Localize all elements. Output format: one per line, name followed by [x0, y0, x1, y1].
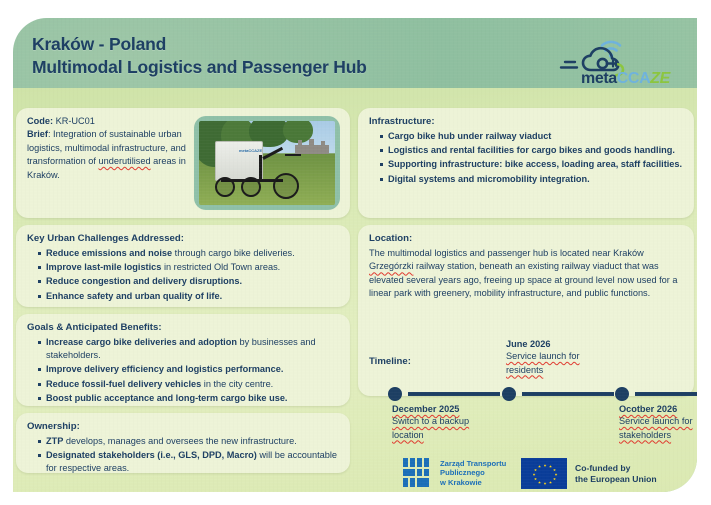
ztp-line-2: Publicznego [440, 468, 506, 478]
item-rest: in the city centre. [201, 379, 273, 389]
item-bold: Supporting infrastructure: bike access, … [388, 159, 682, 169]
infrastructure-heading: Infrastructure: [369, 115, 683, 128]
item-rest: through cargo bike deliveries. [172, 248, 295, 258]
brief-misspelled-word: underutilised [99, 156, 151, 166]
milestone-desc: Service launch for stakeholders [619, 415, 697, 442]
list-item: Logistics and rental facilities for carg… [380, 144, 683, 157]
metaccaze-logo: metaCCAZE [553, 36, 693, 92]
timeline-dot-2[interactable] [502, 387, 516, 401]
brief-card: Code: KR-UC01 Brief: Integration of sust… [16, 108, 350, 218]
list-item: Reduce emissions and noise through cargo… [38, 247, 339, 260]
item-bold: ZTP [46, 436, 63, 446]
code-value: KR-UC01 [53, 116, 95, 126]
goals-heading: Goals & Anticipated Benefits: [27, 321, 339, 334]
eu-line-2: the European Union [575, 474, 657, 485]
item-bold: Logistics and rental facilities for carg… [388, 145, 675, 155]
item-bold: Digital systems and micromobility integr… [388, 174, 590, 184]
timeline: Timeline: December 2025 Switch to a back… [358, 340, 697, 445]
poster-header: Kraków - Poland Multimodal Logistics and… [13, 18, 697, 90]
item-bold: Boost public acceptance and long-term ca… [46, 393, 287, 403]
infrastructure-list: Cargo bike hub under railway viaduct Log… [369, 130, 683, 186]
item-bold: Improve delivery efficiency and logistic… [46, 364, 283, 374]
list-item: Reduce congestion and delivery disruptio… [38, 275, 339, 288]
logo-word-meta: meta [581, 70, 617, 87]
photo-frame: metaCCAZE [194, 116, 340, 210]
location-misspelled-word: Grzegórzki [369, 261, 413, 271]
use-case-poster: Kraków - Poland Multimodal Logistics and… [13, 18, 697, 492]
timeline-dot-1[interactable] [388, 387, 402, 401]
item-bold: Increase cargo bike deliveries and adopt… [46, 337, 237, 347]
cargo-box [215, 141, 263, 181]
ztp-line-3: w Krakowie [440, 478, 506, 488]
ztp-pixel-logo-icon [403, 458, 433, 488]
list-item: Supporting infrastructure: bike access, … [380, 158, 683, 171]
list-item: ZTP develops, manages and oversees the n… [38, 435, 339, 448]
list-item: Enhance safety and urban quality of life… [38, 290, 339, 303]
footer-logos: Zarząd Transportu Publicznego w Krakowie [358, 454, 694, 492]
milestone-desc: Service launch for residents [506, 350, 610, 377]
timeline-bar-1 [408, 392, 500, 396]
ztp-text: Zarząd Transportu Publicznego w Krakowie [440, 459, 506, 488]
eu-text: Co-funded by the European Union [575, 463, 657, 485]
item-bold: Designated stakeholders (i.e., GLS, DPD,… [46, 450, 257, 460]
timeline-milestone-2: June 2026 Service launch for residents [506, 338, 610, 377]
list-item: Designated stakeholders (i.e., GLS, DPD,… [38, 449, 339, 475]
milestone-date: Ocotber 2026 [619, 403, 697, 415]
ztp-logo: Zarząd Transportu Publicznego w Krakowie [403, 458, 506, 488]
eu-line-1: Co-funded by [575, 463, 657, 474]
ownership-list: ZTP develops, manages and oversees the n… [27, 435, 339, 476]
page-title: Kraków - Poland Multimodal Logistics and… [32, 33, 367, 79]
photo-bike-logo: metaCCAZE [239, 148, 262, 153]
list-item: Digital systems and micromobility integr… [380, 173, 683, 186]
timeline-milestone-1: December 2025 Switch to a backup locatio… [392, 403, 496, 442]
list-item: Improve delivery efficiency and logistic… [38, 363, 339, 376]
list-item: Cargo bike hub under railway viaduct [380, 130, 683, 143]
timeline-milestone-3: Ocotber 2026 Service launch for stakehol… [619, 403, 697, 442]
item-bold: Reduce fossil-fuel delivery vehicles [46, 379, 201, 389]
location-text: The multimodal logistics and passenger h… [369, 247, 683, 301]
cargo-bike-photo: metaCCAZE [199, 121, 335, 205]
title-line-2: Multimodal Logistics and Passenger Hub [32, 56, 367, 79]
title-line-1: Kraków - Poland [32, 34, 166, 54]
list-item: Improve last-mile logistics in restricte… [38, 261, 339, 274]
goals-list: Increase cargo bike deliveries and adopt… [27, 336, 339, 405]
poster-body: Code: KR-UC01 Brief: Integration of sust… [13, 88, 697, 492]
timeline-bar-3 [635, 392, 697, 396]
logo-word-cca: CCA [617, 70, 650, 87]
timeline-dot-3[interactable] [615, 387, 629, 401]
goals-card: Goals & Anticipated Benefits: Increase c… [16, 314, 350, 406]
logo-wordmark: metaCCAZE [581, 70, 670, 88]
ztp-line-1: Zarząd Transportu [440, 459, 506, 469]
milestone-date: December 2025 [392, 403, 496, 415]
ownership-card: Ownership: ZTP develops, manages and ove… [16, 413, 350, 473]
item-rest: in restricted Old Town areas. [161, 262, 280, 272]
brief-label: Brief [27, 129, 48, 139]
screenshot-canvas: Kraków - Poland Multimodal Logistics and… [0, 0, 711, 505]
challenges-heading: Key Urban Challenges Addressed: [27, 232, 339, 245]
brief-text: Code: KR-UC01 Brief: Integration of sust… [27, 115, 192, 182]
infrastructure-card: Infrastructure: Cargo bike hub under rai… [358, 108, 694, 218]
eu-funding-logo: Co-funded by the European Union [521, 458, 657, 489]
challenges-list: Reduce emissions and noise through cargo… [27, 247, 339, 303]
ownership-heading: Ownership: [27, 420, 339, 433]
list-item: Boost public acceptance and long-term ca… [38, 392, 339, 405]
item-bold: Enhance safety and urban quality of life… [46, 291, 222, 301]
location-text-after: railway station, beneath an existing rai… [369, 261, 678, 298]
list-item: Reduce fossil-fuel delivery vehicles in … [38, 378, 339, 391]
item-bold: Reduce emissions and noise [46, 248, 172, 258]
milestone-desc: Switch to a backup location [392, 415, 496, 442]
location-text-before: The multimodal logistics and passenger h… [369, 248, 644, 258]
eu-flag-icon [521, 458, 567, 489]
logo-word-ze: ZE [650, 70, 670, 87]
challenges-card: Key Urban Challenges Addressed: Reduce e… [16, 225, 350, 307]
item-rest: develops, manages and oversees the new i… [63, 436, 296, 446]
timeline-axis [372, 387, 696, 401]
item-bold: Cargo bike hub under railway viaduct [388, 131, 551, 141]
milestone-date: June 2026 [506, 338, 610, 350]
list-item: Increase cargo bike deliveries and adopt… [38, 336, 339, 362]
code-label: Code: [27, 116, 53, 126]
location-heading: Location: [369, 232, 683, 245]
timeline-label: Timeline: [369, 356, 411, 367]
timeline-bar-2 [522, 392, 614, 396]
item-bold: Reduce congestion and delivery disruptio… [46, 276, 242, 286]
item-bold: Improve last-mile logistics [46, 262, 161, 272]
